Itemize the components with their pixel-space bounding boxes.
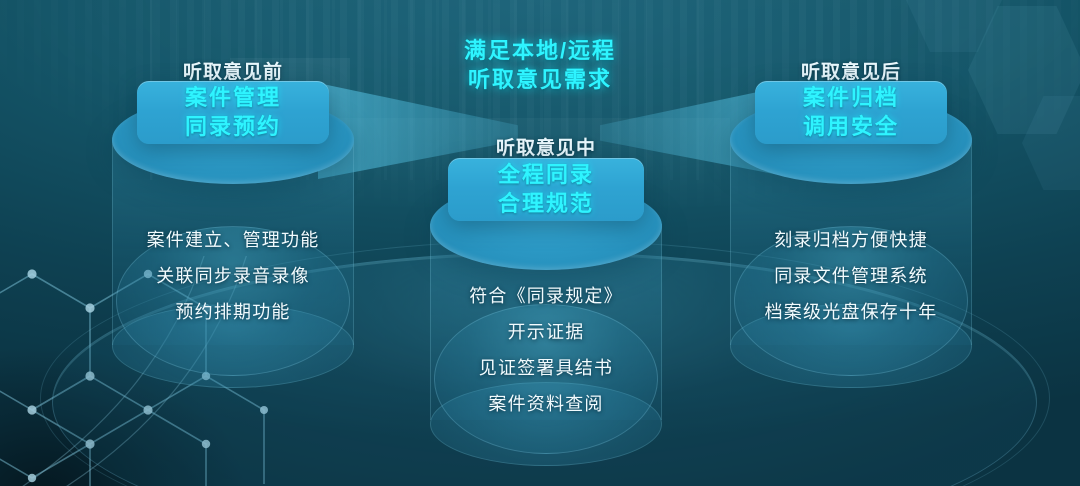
- headline-line1: 满足本地/远程: [0, 36, 1080, 65]
- list-item: 符合《同录规定》: [469, 278, 623, 314]
- headline: 满足本地/远程 听取意见需求: [0, 36, 1080, 94]
- items-left: 案件建立、管理功能 关联同步录音录像 预约排期功能: [112, 222, 354, 330]
- headline-line2: 听取意见需求: [0, 65, 1080, 94]
- items-center: 符合《同录规定》 开示证据 见证签署具结书 案件资料查阅: [430, 278, 662, 422]
- card-center-line2: 合理规范: [498, 191, 594, 218]
- card-center-line1: 全程同录: [498, 162, 594, 189]
- list-item: 见证签署具结书: [479, 350, 613, 386]
- card-right-line2: 调用安全: [803, 114, 899, 141]
- list-item: 案件建立、管理功能: [147, 222, 320, 258]
- list-item: 关联同步录音录像: [156, 258, 310, 294]
- list-item: 案件资料查阅: [488, 386, 603, 422]
- card-left-line2: 同录预约: [185, 114, 281, 141]
- card-center[interactable]: 全程同录 合理规范: [448, 158, 644, 221]
- list-item: 开示证据: [508, 314, 585, 350]
- infographic-slide: 听取意见前 案件管理 同录预约 案件建立、管理功能 关联同步录音录像 预约排期功…: [0, 0, 1080, 486]
- items-right: 刻录归档方便快捷 同录文件管理系统 档案级光盘保存十年: [730, 222, 972, 330]
- list-item: 同录文件管理系统: [774, 258, 928, 294]
- list-item: 刻录归档方便快捷: [774, 222, 928, 258]
- list-item: 预约排期功能: [175, 294, 290, 330]
- kicker-center: 听取意见中: [430, 133, 662, 160]
- list-item: 档案级光盘保存十年: [765, 294, 938, 330]
